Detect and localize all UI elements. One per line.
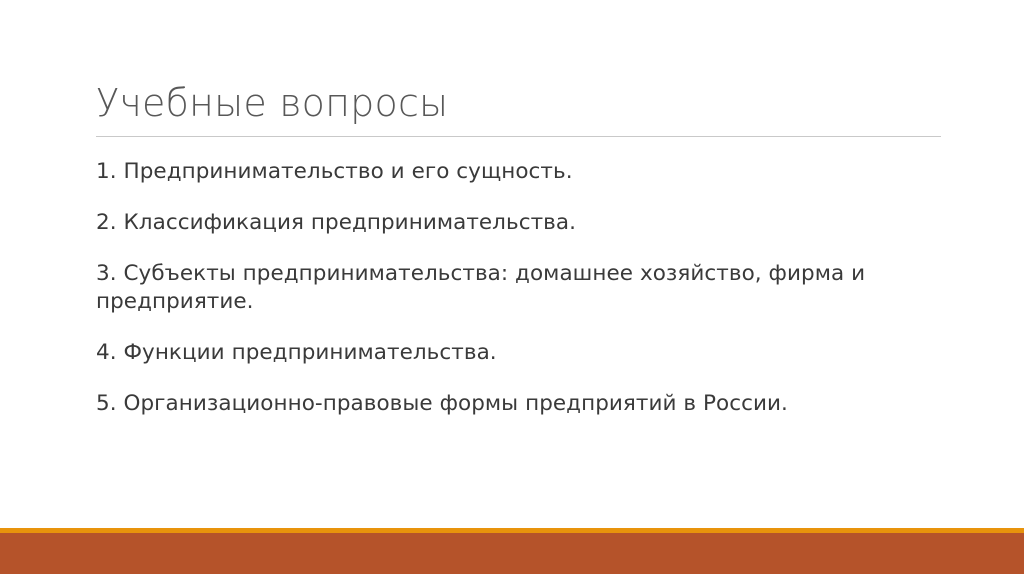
list-item: 1. Предпринимательство и его сущность. <box>96 158 944 187</box>
list-item: 2. Классификация предпринимательства. <box>96 209 944 238</box>
list-item: 3. Субъекты предпринимательства: домашне… <box>96 260 944 318</box>
footer-band <box>0 533 1024 574</box>
page-title: Учебные вопросы <box>96 80 941 132</box>
title-block: Учебные вопросы <box>96 80 941 137</box>
footer-decoration <box>0 528 1024 574</box>
questions-list: 1. Предпринимательство и его сущность. 2… <box>96 158 944 419</box>
title-divider <box>96 136 941 137</box>
list-item: 4. Функции предпринимательства. <box>96 339 944 368</box>
presentation-slide: Учебные вопросы 1. Предпринимательство и… <box>0 0 1024 574</box>
list-item: 5. Организационно-правовые формы предпри… <box>96 390 944 419</box>
